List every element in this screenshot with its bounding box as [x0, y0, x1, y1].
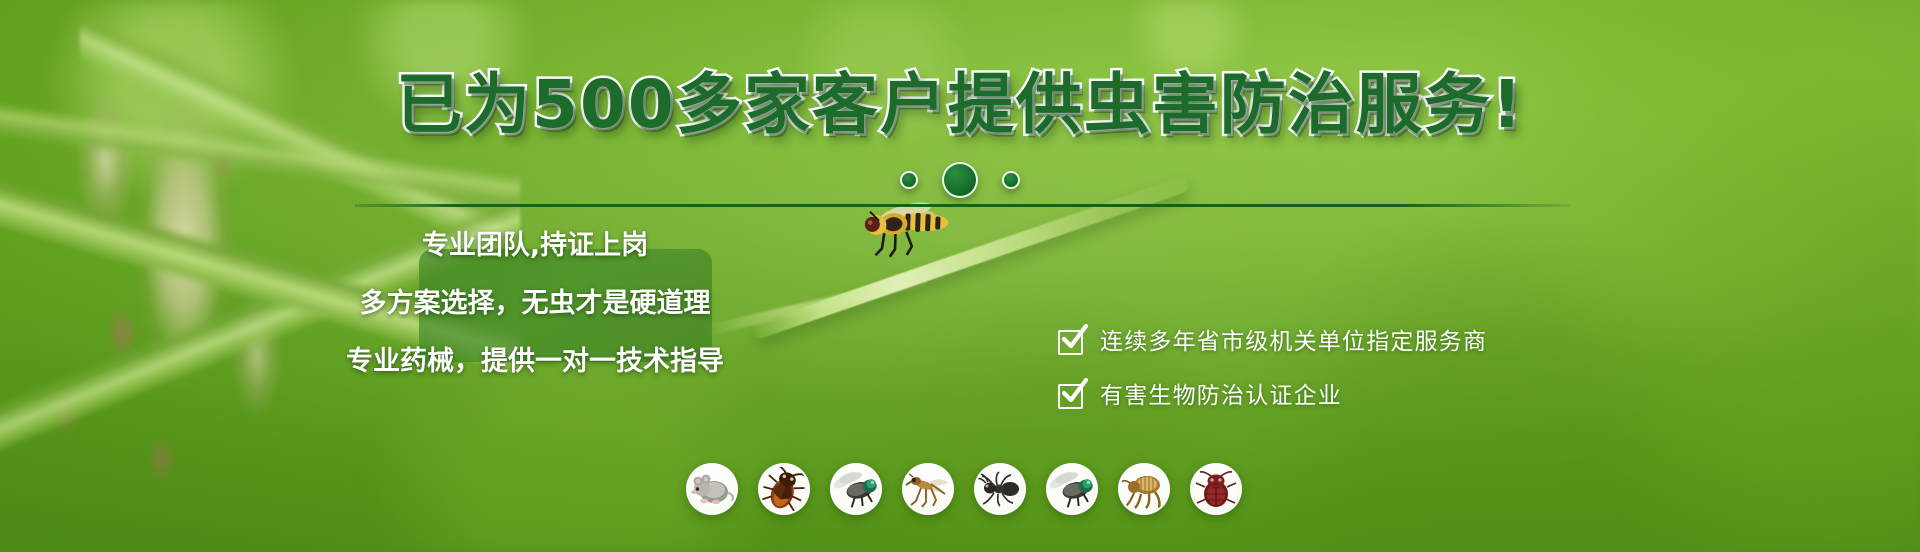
slogan-list: 专业团队,持证上岗 多方案选择，无虫才是硬道理 专业药械，提供一对一技术指导 [340, 212, 730, 375]
large-dot-icon [942, 162, 978, 198]
pest-control-banner: 已为500多家客户提供虫害防治服务! 专业团队,持证上岗 多方案选择，无虫才是硬… [0, 0, 1920, 552]
small-dot-icon [900, 171, 918, 189]
pest-icon-strip [686, 463, 1242, 515]
fly-icon[interactable] [830, 463, 882, 515]
credential-text: 有害生物防治认证企业 [1100, 385, 1342, 408]
horizontal-divider [355, 204, 1570, 207]
flea-icon[interactable] [1118, 463, 1170, 515]
checkbox-checked-icon [1058, 382, 1086, 410]
page-title: 已为500多家客户提供虫害防治服务! [0, 72, 1920, 138]
cockroach-icon[interactable] [758, 463, 810, 515]
slogan-line-1: 专业团队,持证上岗 [422, 232, 648, 259]
credential-text: 连续多年省市级机关单位指定服务商 [1100, 331, 1487, 354]
ant-icon[interactable] [974, 463, 1026, 515]
bedbug-icon[interactable] [1190, 463, 1242, 515]
fly-icon[interactable] [1046, 463, 1098, 515]
mouse-icon[interactable] [686, 463, 738, 515]
decorative-dots [0, 158, 1920, 202]
mosquito-icon[interactable] [902, 463, 954, 515]
list-item: 连续多年省市级机关单位指定服务商 [1058, 328, 1618, 356]
page-title-text: 已为500多家客户提供虫害防治服务! [396, 66, 1524, 143]
small-dot-icon [1002, 171, 1020, 189]
slogan-line-2: 多方案选择，无虫才是硬道理 [360, 290, 711, 317]
slogan-line-3: 专业药械，提供一对一技术指导 [346, 348, 724, 375]
list-item: 有害生物防治认证企业 [1058, 382, 1618, 410]
checkbox-checked-icon [1058, 328, 1086, 356]
credential-checklist: 连续多年省市级机关单位指定服务商 有害生物防治认证企业 [1058, 328, 1618, 410]
